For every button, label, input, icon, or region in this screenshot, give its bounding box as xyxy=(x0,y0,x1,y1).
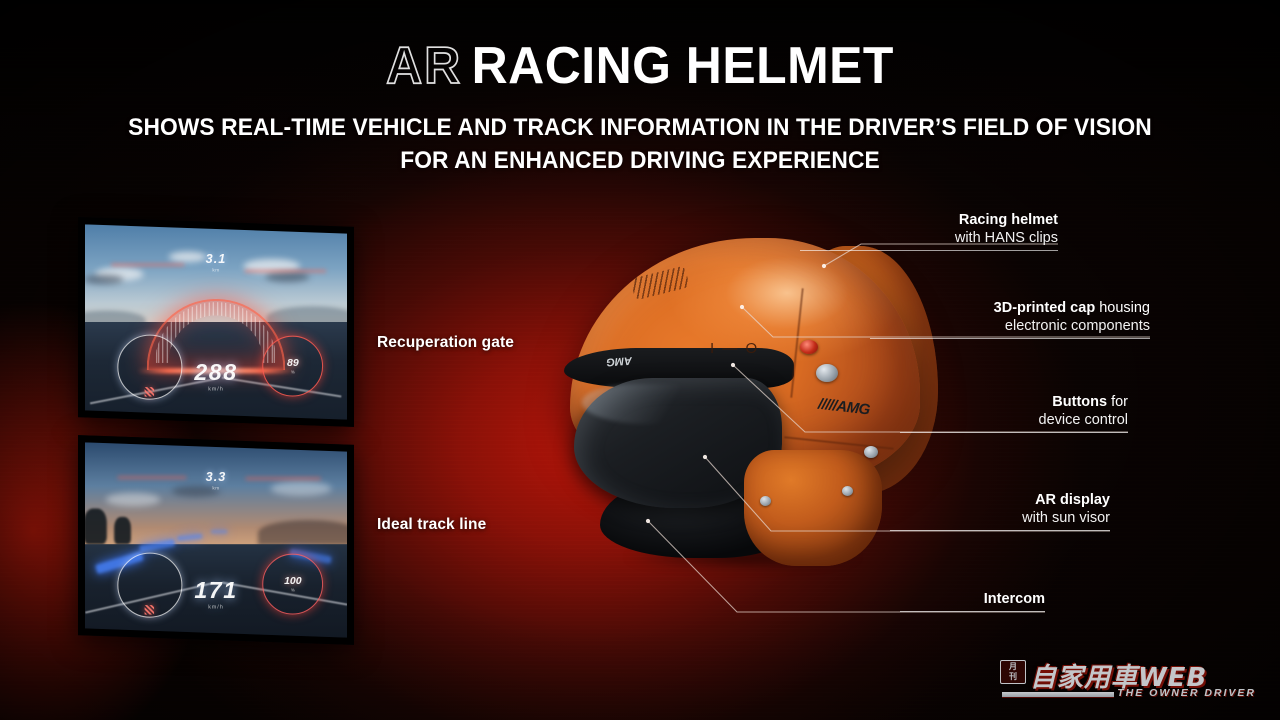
title-block: ARRACING HELMET xyxy=(0,40,1280,92)
hud-distance-readout: 3.3 km xyxy=(78,470,353,491)
callout-title: AR display xyxy=(890,491,1110,509)
watermark-logo: 月 刊 自家用車WEB THE OWNER DRIVER xyxy=(1000,657,1258,705)
callout-subtitle: electronic components xyxy=(870,317,1150,335)
hud-speed-value: 288 xyxy=(194,359,237,385)
ideal-line-arrow xyxy=(210,530,227,534)
infographic-stage: ARRACING HELMET SHOWS REAL-TIME VEHICLE … xyxy=(0,0,1280,720)
callout-title: 3D-printed cap housing xyxy=(870,299,1150,317)
page-subtitle: SHOWS REAL-TIME VEHICLE AND TRACK INFORM… xyxy=(45,112,1235,178)
callout-rule xyxy=(870,338,1150,339)
subtitle-line-2: FOR AN ENHANCED DRIVING EXPERIENCE xyxy=(45,145,1235,178)
callout-rule xyxy=(900,432,1128,433)
red-button[interactable] xyxy=(800,340,818,354)
callout-title: Buttons for xyxy=(900,393,1128,411)
watermark-badge-line-1: 月 xyxy=(1001,662,1025,672)
label-ideal-track-line: Ideal track line xyxy=(377,516,486,534)
hud-screen-1-content: 3.1 km 89 % 288 km/h xyxy=(78,224,353,419)
callout-title-bold: 3D-printed cap xyxy=(994,300,1096,316)
callout-buttons: Buttons for device control xyxy=(900,393,1128,433)
callout-subtitle: with sun visor xyxy=(890,509,1110,527)
page-title: ARRACING HELMET xyxy=(26,40,1255,92)
hud-speed-readout: 288 km/h xyxy=(78,359,353,393)
hud-screen-ideal-track-line: 3.3 km 100 % 171 km/h xyxy=(78,435,354,645)
hud-speed-readout: 171 km/h xyxy=(78,577,353,611)
hud-distance-readout: 3.1 km xyxy=(78,252,353,273)
hill xyxy=(258,520,354,545)
hud-distance-value: 3.3 xyxy=(206,470,227,485)
hud-distance-unit: km xyxy=(78,267,353,272)
callout-rule xyxy=(900,611,1045,612)
tree xyxy=(114,517,131,544)
helmet-screw xyxy=(760,496,771,506)
hud-speed-unit: km/h xyxy=(78,604,353,610)
title-prefix: AR xyxy=(386,37,472,95)
callout-3d-printed-cap: 3D-printed cap housing electronic compon… xyxy=(870,299,1150,339)
tree xyxy=(84,509,107,545)
watermark-badge: 月 刊 xyxy=(1000,660,1026,684)
watermark-tagline: THE OWNER DRIVER xyxy=(1117,687,1256,699)
callout-rule xyxy=(890,530,1110,531)
hud-distance-value: 3.1 xyxy=(206,252,227,267)
hud-distance-unit: km xyxy=(78,485,353,490)
callout-intercom: Intercom xyxy=(900,590,1045,612)
callout-title-bold: Buttons xyxy=(1052,394,1107,410)
helmet-screw xyxy=(842,486,853,496)
callout-title-rest: for xyxy=(1107,394,1128,410)
callout-subtitle: with HANS clips xyxy=(800,229,1058,247)
hud-speed-value: 171 xyxy=(194,577,237,603)
subtitle-line-1: SHOWS REAL-TIME VEHICLE AND TRACK INFORM… xyxy=(45,112,1235,145)
watermark-bar xyxy=(1002,692,1114,697)
callout-racing-helmet: Racing helmet with HANS clips xyxy=(800,211,1058,251)
callout-rule xyxy=(800,250,1058,251)
hans-clip xyxy=(864,446,878,458)
hud-speed-unit: km/h xyxy=(78,386,353,392)
helmet-cheek-panel xyxy=(744,450,882,566)
label-recuperation-gate: Recuperation gate xyxy=(377,334,514,352)
title-main: RACING HELMET xyxy=(472,37,894,95)
watermark-badge-line-2: 刊 xyxy=(1001,672,1025,682)
cloud xyxy=(266,271,310,282)
hud-screen-2-content: 3.3 km 100 % 171 km/h xyxy=(78,442,353,637)
callout-ar-display: AR display with sun visor xyxy=(890,491,1110,531)
callout-title: Intercom xyxy=(900,590,1045,608)
callout-subtitle: device control xyxy=(900,411,1128,429)
power-marking: I — O xyxy=(710,340,759,357)
callout-title-rest: housing xyxy=(1095,300,1150,316)
hud-screen-recuperation-gate: 3.1 km 89 % 288 km/h xyxy=(78,217,354,427)
callout-title: Racing helmet xyxy=(800,211,1058,229)
silver-button[interactable] xyxy=(816,364,838,382)
